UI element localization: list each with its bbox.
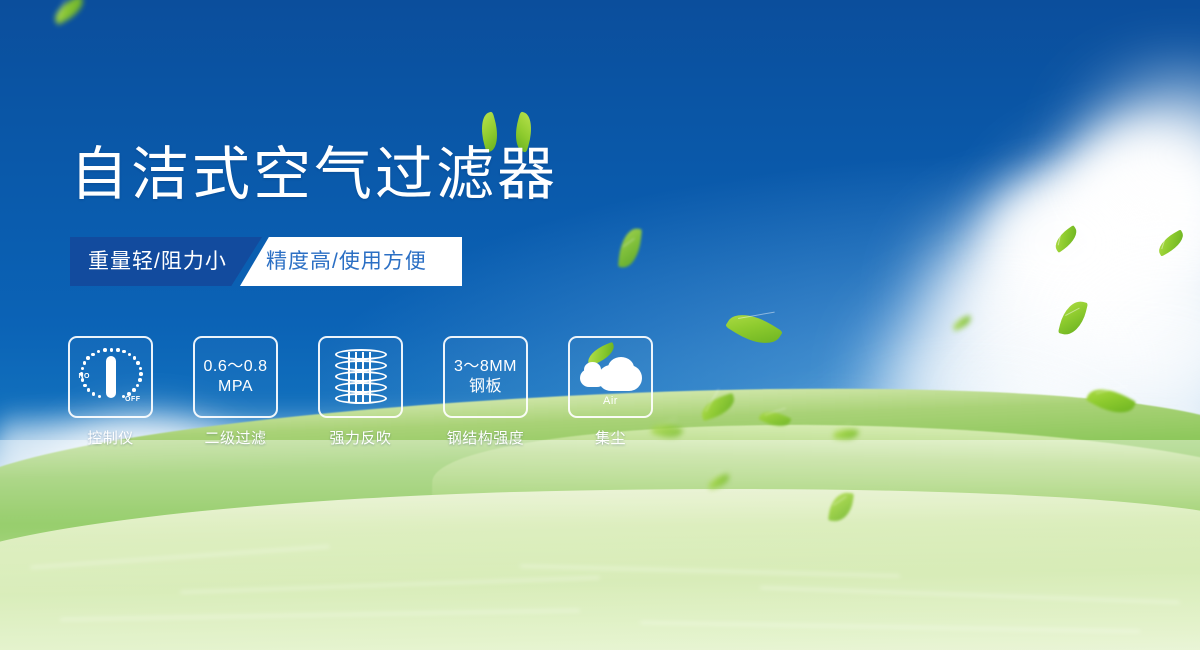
feature-icon-box: NO OFF	[68, 336, 153, 418]
feature-label: 集尘	[595, 427, 626, 448]
feature-item-two-stage-filter[interactable]: 0.6～0.8 MPA 二级过滤	[195, 336, 276, 448]
filter-stack-icon	[335, 349, 387, 405]
feature-icon-box: Air	[568, 336, 653, 418]
feature-label: 控制仪	[87, 427, 134, 448]
tagline-left-text: 重量轻/阻力小	[88, 237, 227, 286]
pressure-text-icon: 0.6～0.8 MPA	[204, 357, 268, 397]
tagline-band: 重量轻/阻力小 精度高/使用方便	[70, 237, 462, 286]
steel-text-icon: 3～8MM 钢板	[454, 357, 517, 397]
feature-icon-box: 0.6～0.8 MPA	[193, 336, 278, 418]
feature-item-dust-collection[interactable]: Air 集尘	[570, 336, 651, 448]
steel-thickness: 3～8MM	[454, 358, 517, 375]
feature-icon-box: 3～8MM 钢板	[443, 336, 528, 418]
gauge-label-no: NO	[79, 373, 91, 380]
feature-item-steel-strength[interactable]: 3～8MM 钢板 钢结构强度	[445, 336, 526, 448]
tagline-right-text: 精度高/使用方便	[266, 237, 427, 286]
feature-list: NO OFF 控制仪 0.6～0.8 MPA 二级过滤	[70, 336, 651, 448]
gauge-icon: NO OFF	[79, 347, 143, 407]
air-label: Air	[580, 395, 642, 407]
feature-label: 强力反吹	[329, 427, 391, 448]
feature-icon-box	[318, 336, 403, 418]
pressure-unit: MPA	[204, 377, 268, 397]
air-cloud-icon: Air	[580, 351, 642, 403]
steel-material: 钢板	[454, 377, 517, 397]
feature-item-backblow[interactable]: 强力反吹	[320, 336, 401, 448]
gauge-label-off: OFF	[125, 396, 141, 403]
pressure-value: 0.6～0.8	[204, 358, 268, 375]
feature-label: 钢结构强度	[447, 427, 525, 448]
feature-label: 二级过滤	[204, 427, 266, 448]
product-banner: 自洁式空气过滤器 重量轻/阻力小 精度高/使用方便	[0, 0, 1200, 650]
feature-item-controller[interactable]: NO OFF 控制仪	[70, 336, 151, 448]
gauge-needle	[106, 356, 116, 398]
page-title: 自洁式空气过滤器	[70, 146, 558, 204]
